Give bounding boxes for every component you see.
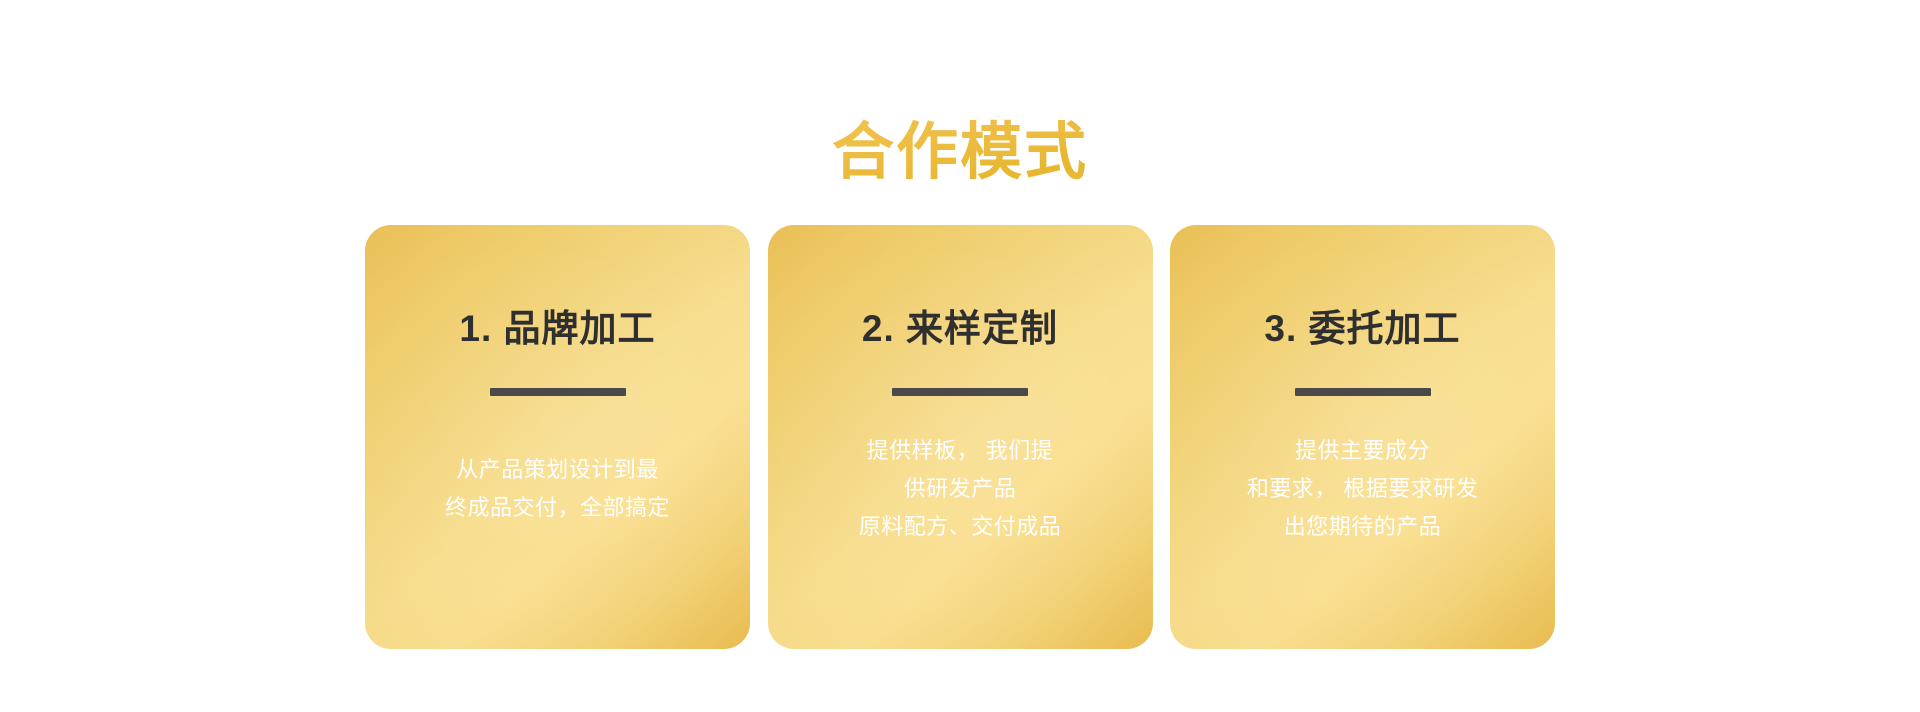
cooperation-model-section: 合作模式 1. 品牌加工 从产品策划设计到最 终成品交付，全部搞定 2. 来样定… xyxy=(0,0,1920,712)
card-sample-customization[interactable]: 2. 来样定制 提供样板， 我们提 供研发产品 原料配方、交付成品 xyxy=(768,225,1153,649)
card-content: 1. 品牌加工 从产品策划设计到最 终成品交付，全部搞定 xyxy=(387,225,728,527)
card-description: 提供样板， 我们提 供研发产品 原料配方、交付成品 xyxy=(859,432,1062,546)
card-description-line: 从产品策划设计到最 xyxy=(445,451,670,489)
card-oem-processing[interactable]: 3. 委托加工 提供主要成分 和要求， 根据要求研发 出您期待的产品 xyxy=(1170,225,1555,649)
card-title: 2. 来样定制 xyxy=(862,306,1058,352)
card-description-line: 供研发产品 xyxy=(859,470,1062,508)
section-title: 合作模式 xyxy=(0,114,1920,192)
card-brand-processing[interactable]: 1. 品牌加工 从产品策划设计到最 终成品交付，全部搞定 xyxy=(365,225,750,649)
card-divider xyxy=(892,388,1028,396)
card-divider xyxy=(1295,388,1431,396)
card-description-line: 提供主要成分 xyxy=(1247,432,1479,470)
card-content: 2. 来样定制 提供样板， 我们提 供研发产品 原料配方、交付成品 xyxy=(790,225,1131,546)
card-description: 提供主要成分 和要求， 根据要求研发 出您期待的产品 xyxy=(1247,432,1479,546)
card-description-line: 和要求， 根据要求研发 xyxy=(1247,470,1479,508)
card-title: 3. 委托加工 xyxy=(1264,306,1460,352)
card-content: 3. 委托加工 提供主要成分 和要求， 根据要求研发 出您期待的产品 xyxy=(1192,225,1533,546)
cards-row: 1. 品牌加工 从产品策划设计到最 终成品交付，全部搞定 2. 来样定制 提供样… xyxy=(365,225,1555,649)
card-title: 1. 品牌加工 xyxy=(459,306,655,352)
card-description-line: 原料配方、交付成品 xyxy=(859,508,1062,546)
card-description-line: 提供样板， 我们提 xyxy=(859,432,1062,470)
card-description-line: 出您期待的产品 xyxy=(1247,508,1479,546)
card-divider xyxy=(490,388,626,396)
card-description-line: 终成品交付，全部搞定 xyxy=(445,489,670,527)
card-description: 从产品策划设计到最 终成品交付，全部搞定 xyxy=(445,451,670,527)
